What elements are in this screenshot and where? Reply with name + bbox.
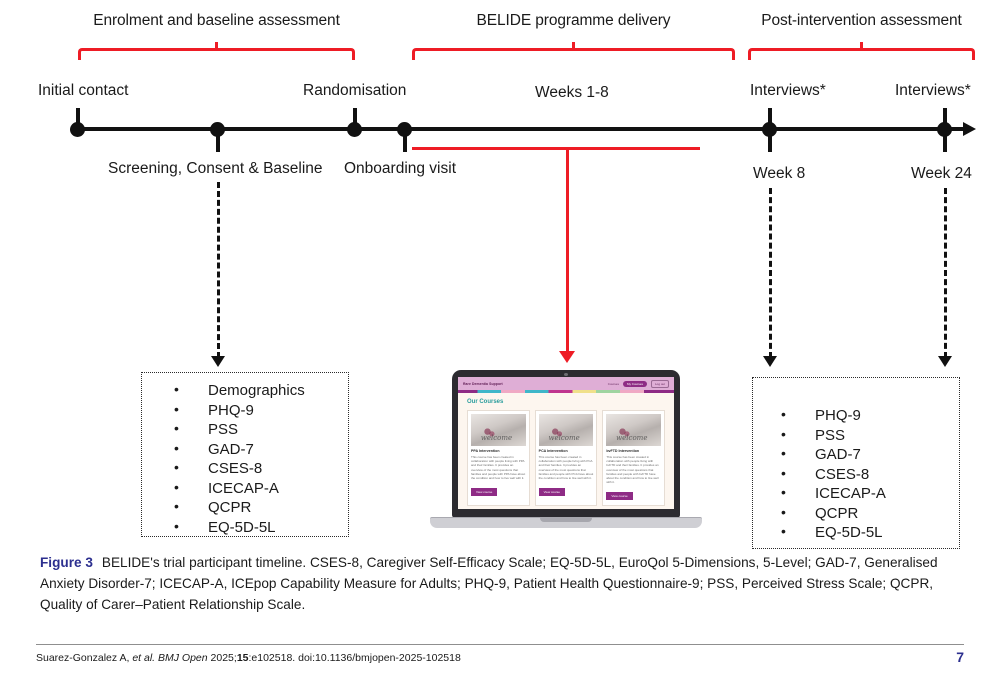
site-topbar: Rare Dementia Support Courses My Courses… [458,377,674,390]
list-item: PSS [753,426,959,446]
list-item: ICECAP-A [753,484,959,504]
dashed-connector-week24 [944,188,947,358]
nav-my-courses[interactable]: My Courses [623,381,647,387]
course-card-list: PPA Intervention This course has been cr… [467,410,665,506]
figure-page: Enrolment and baseline assessment BELIDE… [0,0,1000,677]
course-card[interactable]: PCA Intervention This course has been cr… [535,410,598,506]
timeline-node-screening-consent-baseline[interactable] [210,122,225,137]
axis-label-initial-contact: Initial contact [38,82,128,100]
list-item: GAD-7 [142,440,348,460]
course-card[interactable]: PPA Intervention This course has been cr… [467,410,530,506]
site-heading: Our Courses [467,399,665,405]
course-description: This course has been created in collabor… [606,455,661,484]
axis-label-interviews-week8: Interviews* [750,82,826,100]
footer-journal: BMJ Open [158,652,208,664]
dashed-arrowhead-week8 [763,356,777,367]
axis-label-weeks-1-8: Weeks 1-8 [535,84,609,102]
course-title: PPA Intervention [471,449,526,453]
course-image [471,414,526,446]
page-number: 7 [956,649,964,665]
bracket-tick [860,42,863,51]
followup-assessment-box: PHQ-9 PSS GAD-7 CSES-8 ICECAP-A QCPR EQ-… [752,377,960,549]
followup-assessment-list: PHQ-9 PSS GAD-7 CSES-8 ICECAP-A QCPR EQ-… [753,406,959,543]
list-item: PHQ-9 [142,401,348,421]
phase-label-delivery: BELIDE programme delivery [412,12,735,30]
timeline-node-initial-contact[interactable] [70,122,85,137]
laptop-mockup: Rare Dementia Support Courses My Courses… [430,370,702,542]
footer-year: 2025; [211,652,237,664]
intervention-arrow-stem [566,147,569,353]
course-view-button[interactable]: View course [471,488,497,496]
axis-label-screening: Screening, Consent & Baseline [108,160,323,178]
list-item: QCPR [142,498,348,518]
site-body: Our Courses PPA Intervention This course… [458,393,674,509]
laptop-lid: Rare Dementia Support Courses My Courses… [452,370,680,518]
bracket-delivery [412,48,735,60]
list-item: EQ-5D-5L [753,523,959,543]
bracket-tick [215,42,218,51]
axis-label-week-24: Week 24 [911,165,972,183]
webcam-icon [564,373,568,376]
timeline-node-randomisation[interactable] [347,122,362,137]
footer-etal: et al. [132,652,155,664]
course-image [539,414,594,446]
axis-label-randomisation: Randomisation [303,82,406,100]
course-title: PCA Intervention [539,449,594,453]
dashed-arrowhead-week24 [938,356,952,367]
nav-log-out[interactable]: Log out [651,380,669,388]
course-title: bvFTD Intervention [606,449,661,453]
figure-caption-text: BELIDE's trial participant timeline. CSE… [40,555,938,612]
phase-label-enrolment: Enrolment and baseline assessment [78,12,355,30]
axis-label-interviews-week24: Interviews* [895,82,971,100]
baseline-assessment-box: Demographics PHQ-9 PSS GAD-7 CSES-8 ICEC… [141,372,349,537]
footer-volume: 15 [237,652,249,664]
trial-timeline-figure: Enrolment and baseline assessment BELIDE… [0,0,1000,548]
nav-link-courses[interactable]: Courses [608,382,619,386]
course-image [606,414,661,446]
site-brand: Rare Dementia Support [463,382,503,386]
laptop-screen: Rare Dementia Support Courses My Courses… [458,377,674,509]
footer-divider [36,644,964,645]
dashed-arrowhead-baseline [211,356,225,367]
figure-caption-label: Figure 3 [40,555,93,570]
phase-label-post-intervention: Post-intervention assessment [748,12,975,30]
list-item: ICECAP-A [142,479,348,499]
list-item: PSS [142,420,348,440]
dashed-connector-baseline [217,182,220,358]
footer-article: :e102518. doi:10.1136/bmjopen-2025-10251… [249,652,461,664]
course-description: This course has been created in collabor… [539,455,594,480]
intervention-arrow-head [559,351,575,363]
timeline-arrowhead [963,122,976,136]
site-nav: Courses My Courses Log out [608,380,669,388]
timeline-node-week-24[interactable] [937,122,952,137]
course-view-button[interactable]: View course [606,492,632,500]
axis-label-onboarding: Onboarding visit [344,160,456,178]
figure-caption: Figure 3BELIDE's trial participant timel… [40,552,965,615]
list-item: CSES-8 [753,465,959,485]
bracket-tick [572,42,575,51]
baseline-assessment-list: Demographics PHQ-9 PSS GAD-7 CSES-8 ICEC… [142,381,348,537]
footer-authors: Suarez-Gonzalez A, [36,652,129,664]
dashed-connector-week8 [769,188,772,358]
list-item: EQ-5D-5L [142,518,348,538]
laptop-notch [540,517,592,522]
bracket-post-intervention [748,48,975,60]
list-item: GAD-7 [753,445,959,465]
timeline-node-week-8[interactable] [762,122,777,137]
list-item: CSES-8 [142,459,348,479]
course-card[interactable]: bvFTD Intervention This course has been … [602,410,665,506]
list-item: PHQ-9 [753,406,959,426]
site-footer: ©2025 - Rare Dementia Support - All righ… [467,506,665,509]
course-view-button[interactable]: View course [539,488,565,496]
list-item: QCPR [753,504,959,524]
axis-label-week-8: Week 8 [753,165,805,183]
course-description: This course has been created in collabor… [471,455,526,480]
list-item: Demographics [142,381,348,401]
bracket-enrolment [78,48,355,60]
intervention-span-line [412,147,700,150]
footer-citation: Suarez-Gonzalez A, et al. BMJ Open 2025;… [36,652,461,664]
timeline-node-onboarding-visit[interactable] [397,122,412,137]
